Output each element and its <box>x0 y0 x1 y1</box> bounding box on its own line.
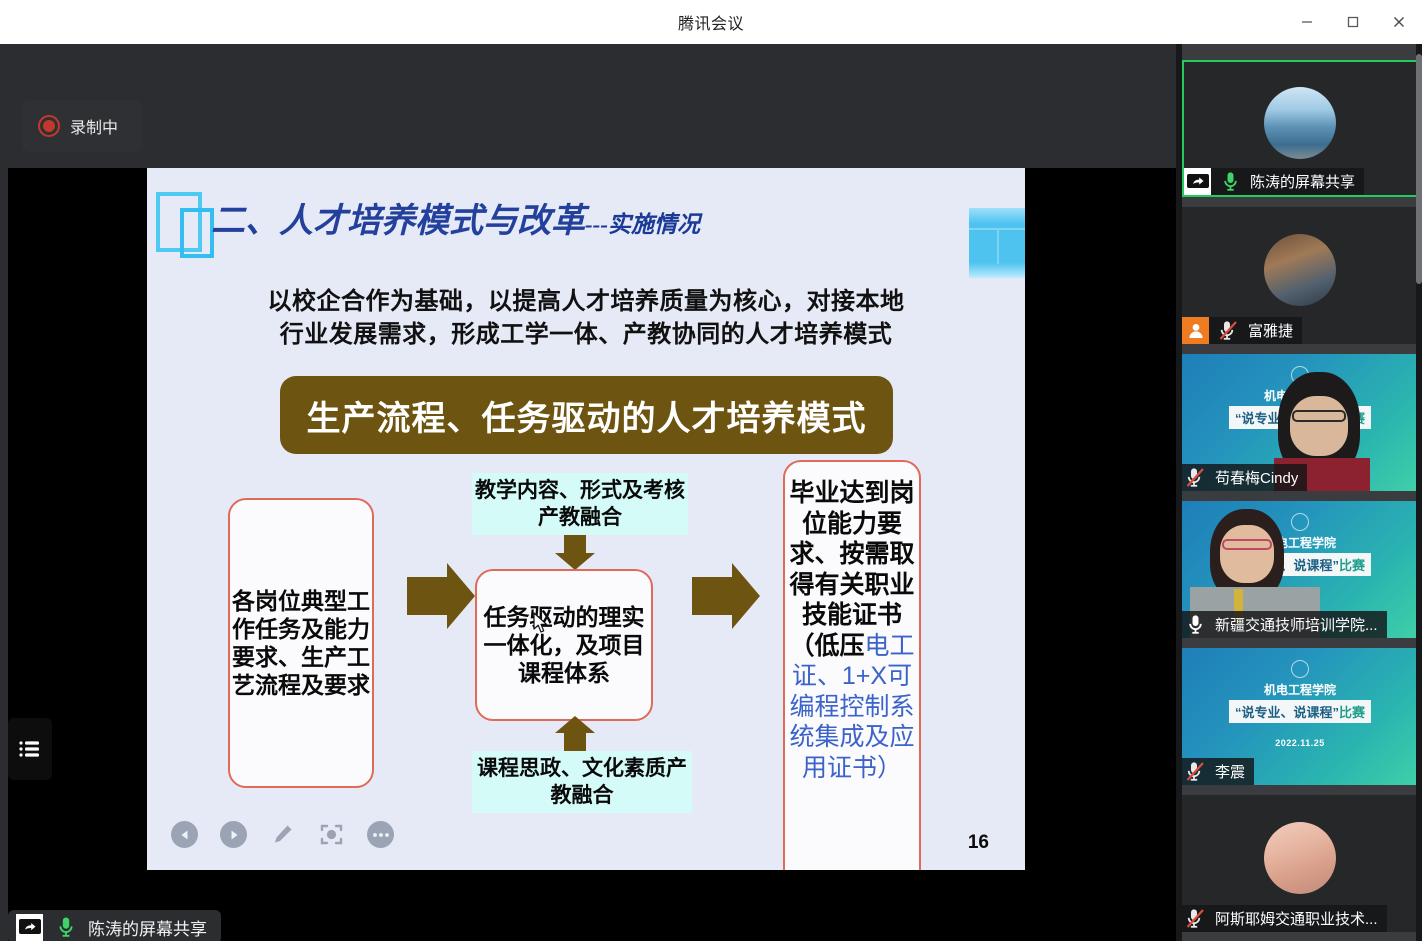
diagram-arrow-right-2-icon <box>692 577 732 615</box>
slide-title: 二、人才培养模式与改革---实施情况 <box>211 193 700 242</box>
diagram-right-box: 毕业达到岗位能力要求、按需取得有关职业技能证书（低压电工证、1+X可编程控制系统… <box>783 460 921 870</box>
glasses <box>1222 539 1272 550</box>
diagram-center-box: 任务驱动的理实一体化，及项目课程体系 <box>475 569 653 721</box>
microphone-muted-icon <box>1182 758 1209 785</box>
avatar <box>1264 234 1336 306</box>
slide-subtitle: 以校企合作为基础，以提高人才培养质量为核心，对接本地 行业发展需求，形成工学一体… <box>147 286 1025 351</box>
record-dot-icon <box>38 115 60 137</box>
participant-nameplate-1: 富雅捷 <box>1182 317 1302 344</box>
video-banner-4: “说专业、说课程”比赛 <box>1229 700 1371 723</box>
panel-scrollbar-thumb[interactable] <box>1416 54 1422 284</box>
maximize-button[interactable] <box>1330 0 1376 44</box>
person-face <box>1220 525 1274 583</box>
microphone-on-icon <box>52 914 79 941</box>
presentation-slide[interactable]: 二、人才培养模式与改革---实施情况 以校企合作为基础，以提高人才培养质量为核心… <box>147 168 1025 870</box>
recording-badge[interactable]: 录制中 <box>22 100 142 152</box>
avatar <box>1264 822 1336 894</box>
participant-tile-1[interactable]: 富雅捷 <box>1182 207 1418 344</box>
prev-triangle-icon[interactable] <box>171 821 198 848</box>
video-subtitle-4: 机电工程学院 <box>1264 681 1336 698</box>
diagram-arrow-right-1-icon <box>407 577 447 615</box>
pen-icon[interactable] <box>269 821 296 848</box>
diagram-arrow-up-icon <box>564 733 586 751</box>
slide-title-sub: ---实施情况 <box>585 212 700 237</box>
video-banner-part-b: 说课程” <box>1293 705 1339 720</box>
screen-share-icon <box>16 914 43 941</box>
close-button[interactable] <box>1376 0 1422 44</box>
recording-label: 录制中 <box>70 114 118 138</box>
shared-screen-stage[interactable]: 录制中 二、人才培养模式与改革---实施情况 以校企合作为基础，以提高人才培养质… <box>0 44 1176 941</box>
panel-scrollbar-track[interactable] <box>1416 44 1422 941</box>
participant-nameplate-5: 阿斯耶姆交通职业技术... <box>1182 905 1387 932</box>
participant-name-5: 阿斯耶姆交通职业技术... <box>1215 908 1378 929</box>
stage-share-label: 陈涛的屏幕共享 <box>88 915 207 940</box>
presentation-toolbar[interactable] <box>171 821 394 848</box>
user-badge-icon <box>1182 317 1209 344</box>
participant-tile-2[interactable]: 机电工程学院 “说专业、说课程”比赛 苟春梅Cindy <box>1182 354 1418 491</box>
stage-top-chrome <box>0 44 1176 168</box>
video-banner-part-b: 说课程” <box>1293 558 1339 573</box>
microphone-muted-icon <box>1215 317 1242 344</box>
slide-subtitle-line2: 行业发展需求，形成工学一体、产教协同的人才培养模式 <box>147 319 1025 352</box>
window-title: 腾讯会议 <box>678 10 744 34</box>
microphone-on-icon <box>1182 611 1209 638</box>
glasses <box>1292 410 1346 422</box>
microphone-muted-icon <box>1182 464 1209 491</box>
participants-panel[interactable]: 陈涛的屏幕共享 富雅捷 <box>1176 44 1422 941</box>
participant-tile-4[interactable]: 机电工程学院 “说专业、说课程”比赛 2022.11.25 李震 <box>1182 648 1418 785</box>
stage-left-chrome <box>0 44 8 941</box>
diagram-arrow-down-icon <box>564 535 586 553</box>
window-controls <box>1284 0 1422 44</box>
video-date-4: 2022.11.25 <box>1275 738 1325 748</box>
participant-name-4: 李震 <box>1215 761 1245 782</box>
slide-decoration-grid <box>969 208 1025 278</box>
participant-tile-0[interactable]: 陈涛的屏幕共享 <box>1182 60 1418 197</box>
diagram-bottom-cyan-box: 课程思政、文化素质产教融合 <box>472 751 692 813</box>
slide-banner: 生产流程、任务驱动的人才培养模式 <box>280 376 893 454</box>
participant-name-1: 富雅捷 <box>1248 320 1293 341</box>
microphone-muted-icon <box>1182 905 1209 932</box>
stage-share-overlay: 陈涛的屏幕共享 <box>8 910 221 941</box>
video-banner-part-c: 比赛 <box>1339 705 1365 720</box>
diagram-top-cyan-box: 教学内容、形式及考核产教融合 <box>472 473 688 535</box>
list-annotation-icon[interactable] <box>8 718 52 780</box>
slide-page-number: 16 <box>968 832 989 854</box>
participant-nameplate-2: 苟春梅Cindy <box>1182 464 1307 491</box>
microphone-on-icon <box>1217 168 1244 195</box>
participant-tile-3[interactable]: 机电工程学院 “说专业、说课程”比赛 新疆交通技师培训学院... <box>1182 501 1418 638</box>
slide-title-main: 二、人才培养模式与改革 <box>211 203 585 240</box>
participant-tile-5[interactable]: 阿斯耶姆交通职业技术... <box>1182 795 1418 932</box>
school-logo-icon <box>1291 513 1309 531</box>
diagram-left-box: 各岗位典型工作任务及能力要求、生产工艺流程及要求 <box>228 498 374 788</box>
slide-subtitle-line1: 以校企合作为基础，以提高人才培养质量为核心，对接本地 <box>147 286 1025 319</box>
window-titlebar: 腾讯会议 <box>0 0 1422 44</box>
more-dots-icon[interactable] <box>367 821 394 848</box>
avatar <box>1264 87 1336 159</box>
focus-target-icon[interactable] <box>318 821 345 848</box>
person-face <box>1290 396 1348 456</box>
participant-name-2: 苟春梅Cindy <box>1215 467 1298 488</box>
participant-name-3: 新疆交通技师培训学院... <box>1215 614 1378 635</box>
participant-name-0: 陈涛的屏幕共享 <box>1250 171 1355 192</box>
participant-nameplate-4: 李震 <box>1182 758 1254 785</box>
video-banner-part-a: “说专业、 <box>1235 705 1294 720</box>
participant-nameplate-3: 新疆交通技师培训学院... <box>1182 611 1387 638</box>
video-banner-part-c: 比赛 <box>1339 558 1365 573</box>
next-triangle-icon[interactable] <box>220 821 247 848</box>
screen-share-icon <box>1184 168 1211 195</box>
school-logo-icon <box>1291 660 1309 678</box>
minimize-button[interactable] <box>1284 0 1330 44</box>
participant-nameplate-0: 陈涛的屏幕共享 <box>1184 168 1364 195</box>
